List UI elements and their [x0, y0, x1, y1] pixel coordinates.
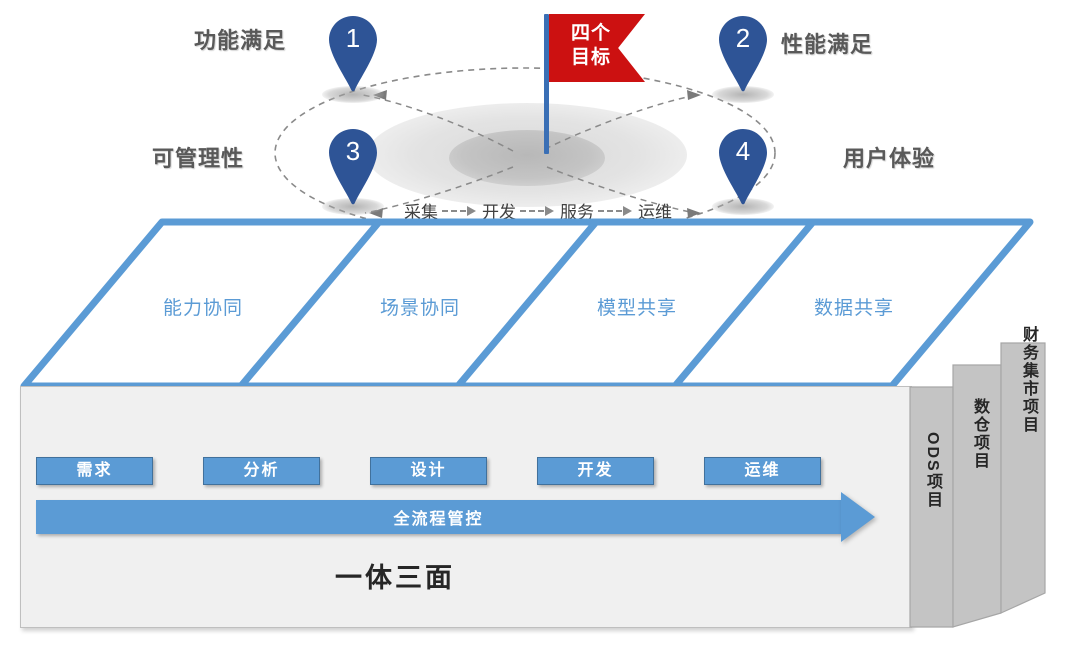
map-pin-icon-3[interactable]: 3 [327, 128, 379, 206]
goal-flag[interactable]: 四个 目标 [549, 14, 645, 82]
map-pin-icon-4[interactable]: 4 [717, 128, 769, 206]
map-pin-icon-1[interactable]: 1 [327, 15, 379, 93]
flag-label: 四个 目标 [563, 22, 619, 71]
full-process-arrow-label: 全流程管控 [393, 505, 483, 529]
goal-label-2: 性能满足 [781, 27, 873, 59]
full-process-arrow-bar[interactable]: 全流程管控 [36, 500, 841, 534]
chevron-right-icon-2 [598, 205, 634, 217]
diagram-canvas: 1 功能满足 2 性能满足 3 可管理性 4 用户体验 四个 目标 采集 开发 … [0, 0, 1080, 651]
top-face-label-3[interactable]: 数据共享 [814, 293, 894, 320]
side-face-label-0[interactable]: ODS项目 [920, 432, 944, 509]
top-face-label-1[interactable]: 场景协同 [380, 293, 460, 320]
chevron-right-icon-1 [520, 205, 556, 217]
goal-label-4: 用户体验 [843, 141, 935, 173]
arrow-head-icon [841, 492, 875, 542]
goal-label-3: 可管理性 [152, 141, 244, 173]
flag-label-line2: 目标 [563, 46, 619, 70]
flag-label-line1: 四个 [563, 22, 619, 46]
top-face-label-0[interactable]: 能力协同 [163, 293, 243, 320]
map-pin-icon-2[interactable]: 2 [717, 15, 769, 93]
goal-label-1: 功能满足 [194, 23, 286, 55]
chevron-right-icon-0 [442, 205, 478, 217]
process-button-2[interactable]: 设计 [370, 457, 487, 485]
process-button-0[interactable]: 需求 [36, 457, 153, 485]
process-button-4[interactable]: 运维 [704, 457, 821, 485]
top-face-label-2[interactable]: 模型共享 [597, 293, 677, 320]
side-face-label-2[interactable]: 财务集市项目 [1016, 326, 1040, 434]
side-face-label-1[interactable]: 数仓项目 [967, 398, 991, 470]
process-button-1[interactable]: 分析 [203, 457, 320, 485]
process-button-3[interactable]: 开发 [537, 457, 654, 485]
cube-front-title: 一体三面 [335, 556, 455, 595]
